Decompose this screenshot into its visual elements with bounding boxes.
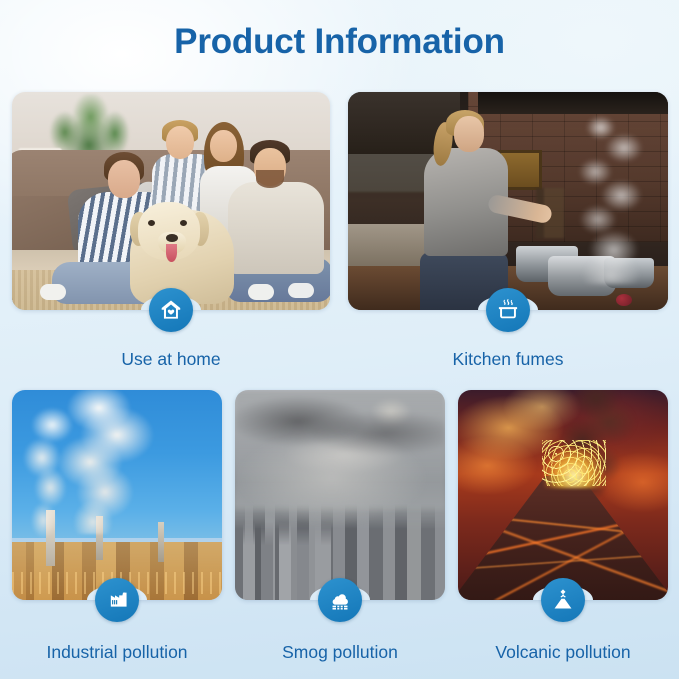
scene-power-plant <box>12 390 222 600</box>
scene-erupting-volcano <box>458 390 668 600</box>
father-beard <box>256 170 284 188</box>
card-label-kitchen-fumes: Kitchen fumes <box>453 349 564 370</box>
photo-volcanic-pollution <box>458 390 668 600</box>
sock-left <box>40 284 66 300</box>
card-volcanic-pollution: Volcanic pollution <box>458 390 668 600</box>
sock-right <box>288 283 314 298</box>
card-label-industrial-pollution: Industrial pollution <box>46 642 187 663</box>
cooking-steam <box>546 114 668 284</box>
haze-overlay <box>235 390 445 600</box>
house-heart-icon <box>149 288 193 332</box>
scene-family-living-room <box>12 92 330 310</box>
scene-smoggy-city <box>235 390 445 600</box>
dog-nose <box>166 234 178 242</box>
photo-kitchen-fumes <box>348 92 668 310</box>
tomatoes <box>616 294 632 306</box>
photo-use-at-home <box>12 92 330 310</box>
boy-head <box>166 126 194 159</box>
photo-industrial-pollution <box>12 390 222 600</box>
woman-head <box>454 116 484 152</box>
dog-tongue <box>166 244 177 262</box>
card-smog-pollution: Smog pollution <box>235 390 445 600</box>
product-information-poster: Product Information <box>0 0 679 679</box>
page-title: Product Information <box>0 22 679 62</box>
ember-sparks <box>542 440 606 486</box>
card-kitchen-fumes: Kitchen fumes <box>348 92 668 310</box>
photo-smog-pollution <box>235 390 445 600</box>
cooking-pot-steam-icon <box>486 288 530 332</box>
sock-center <box>248 284 274 300</box>
dog-eye-left <box>148 220 155 226</box>
volcano-icon <box>541 578 585 622</box>
girl-head <box>210 130 237 162</box>
range-hood <box>478 92 668 114</box>
scene-kitchen-cooking <box>348 92 668 310</box>
page-title-wrapper: Product Information <box>0 22 679 62</box>
card-label-use-at-home: Use at home <box>121 349 220 370</box>
card-label-volcanic-pollution: Volcanic pollution <box>495 642 630 663</box>
smog-cloud-city-icon <box>318 578 362 622</box>
dog-eye-right <box>180 220 187 226</box>
smoke-plume-small <box>12 406 90 542</box>
card-label-smog-pollution: Smog pollution <box>282 642 398 663</box>
card-industrial-pollution: Industrial pollution <box>12 390 222 600</box>
factory-icon <box>95 578 139 622</box>
card-use-at-home: Use at home <box>12 92 330 310</box>
father-body <box>228 182 324 274</box>
mother-head <box>108 160 140 198</box>
